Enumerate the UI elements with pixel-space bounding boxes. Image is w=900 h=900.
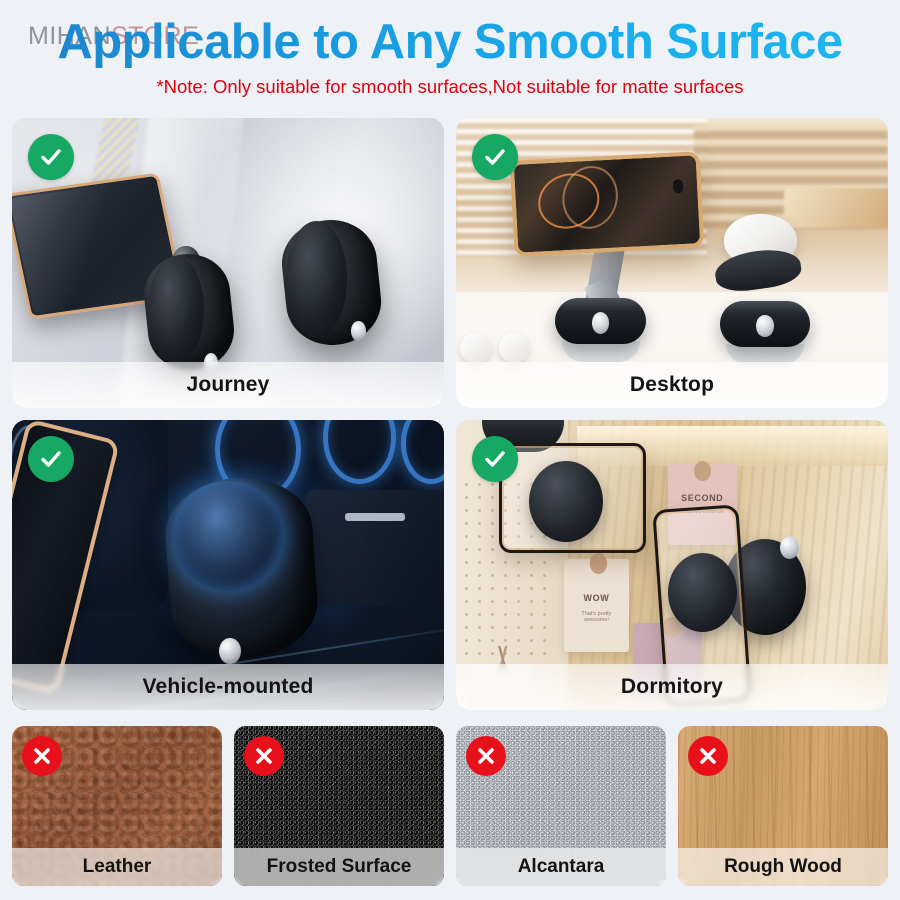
page-title: Applicable to Any Smooth Surface — [0, 14, 900, 70]
scene-tile-dormitory[interactable]: SECOND That will continue WOW That's pre… — [456, 420, 888, 710]
dormitory-note-wow-pin — [590, 553, 607, 573]
vehicle-air-vent-3 — [401, 420, 444, 484]
page-header: MIHANSTORE Applicable to Any Smooth Surf… — [0, 0, 900, 110]
texture-tile-frosted-surface[interactable]: Frosted Surface — [234, 726, 444, 886]
unsupported-surfaces-grid: Leather Frosted Surface Alcantara Rough … — [12, 726, 888, 886]
desktop-base-left-suction — [562, 341, 640, 361]
x-circle-icon — [244, 736, 284, 776]
x-circle-icon — [22, 736, 62, 776]
desktop-phone — [510, 151, 705, 257]
scene-label: Vehicle-mounted — [12, 664, 444, 710]
scene-tile-desktop[interactable]: Desktop — [456, 118, 888, 408]
check-circle-icon — [472, 436, 518, 482]
x-circle-icon — [688, 736, 728, 776]
vehicle-console-button — [345, 513, 405, 522]
vehicle-mount-magnetic-face — [172, 481, 284, 591]
scene-tile-vehicle[interactable]: Vehicle-mounted — [12, 420, 444, 710]
vehicle-console-panel — [306, 490, 444, 606]
vehicle-air-vent-2 — [323, 420, 396, 484]
dormitory-magnet-disc-upper — [529, 461, 602, 542]
desktop-phone-camera — [673, 179, 683, 193]
check-circle-icon — [28, 436, 74, 482]
desktop-earbud-left — [460, 333, 490, 362]
vehicle-mount-screw — [219, 638, 241, 664]
texture-label: Frosted Surface — [234, 848, 444, 886]
scene-tile-journey[interactable]: Journey — [12, 118, 444, 408]
scene-label: Journey — [12, 362, 444, 408]
page-note: *Note: Only suitable for smooth surfaces… — [0, 76, 900, 98]
dormitory-note-wow-title: WOW — [564, 593, 629, 603]
desktop-earbud-right — [499, 333, 529, 362]
texture-tile-leather[interactable]: Leather — [12, 726, 222, 886]
texture-label: Rough Wood — [678, 848, 888, 886]
scene-label: Dormitory — [456, 664, 888, 710]
texture-tile-rough-wood[interactable]: Rough Wood — [678, 726, 888, 886]
scene-label: Desktop — [456, 362, 888, 408]
check-circle-icon — [28, 134, 74, 180]
texture-label: Alcantara — [456, 848, 666, 886]
x-circle-icon — [466, 736, 506, 776]
dormitory-note-second-title: SECOND — [668, 493, 737, 503]
texture-label: Leather — [12, 848, 222, 886]
desktop-mount-cradle — [713, 246, 804, 295]
desktop-base-right-knob — [756, 315, 773, 337]
dormitory-note-second-pin — [694, 461, 711, 481]
texture-tile-alcantara[interactable]: Alcantara — [456, 726, 666, 886]
journey-mount-left-face — [148, 256, 204, 363]
journey-mount-right-face — [286, 221, 346, 337]
dormitory-note-wow-sub: That's pretty awesome! — [569, 611, 623, 623]
scene-grid: Journey — [12, 118, 888, 710]
check-circle-icon — [472, 134, 518, 180]
journey-mount-right-screw — [351, 321, 366, 341]
dormitory-magnet-disc-lower — [668, 553, 737, 631]
desktop-book — [784, 188, 888, 229]
